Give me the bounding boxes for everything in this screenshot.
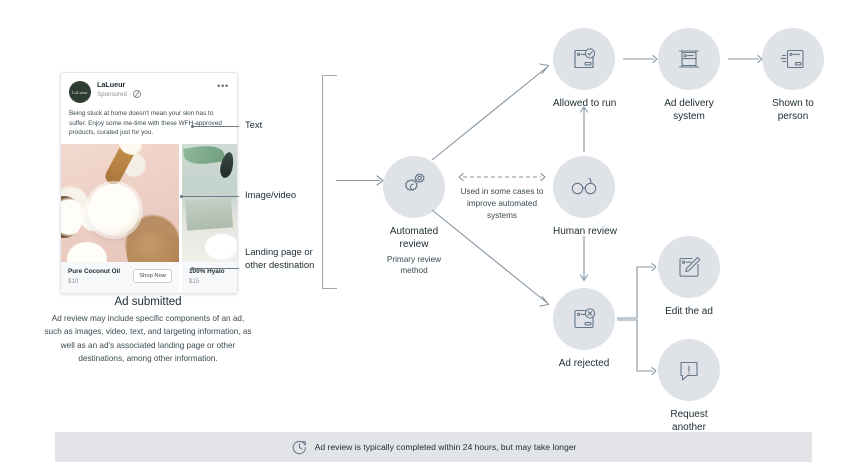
arrow-delivery-to-shown — [728, 54, 766, 64]
node-bubble — [553, 28, 615, 90]
spoon-shape — [103, 144, 140, 187]
callout-label-landing: Landing page or other destination — [245, 246, 323, 271]
ad-submitted-caption: Ad submitted Ad review may include speci… — [42, 296, 254, 365]
callout-leader-media — [182, 196, 239, 197]
bowl-shape — [205, 234, 237, 260]
document-feed-icon — [776, 42, 810, 76]
node-bubble — [658, 339, 720, 401]
product-name: Pure Coconut Oil — [68, 268, 120, 275]
node-bubble — [658, 236, 720, 298]
arrow-rejected-to-request — [617, 318, 663, 380]
node-bubble — [553, 156, 615, 218]
node-label: Ad rejected — [553, 357, 615, 370]
ad-product-row: Pure Coconut Oil $10 Shop Now 100% Hyalo… — [61, 262, 237, 293]
node-label: Shown to person — [762, 97, 824, 123]
status-bar-text: Ad review is typically completed within … — [315, 442, 577, 452]
ad-sponsored-label: Sponsored — [97, 91, 127, 98]
ad-preview-card: LaLueur LaLueur Sponsored · ••• Being st… — [60, 72, 238, 294]
powder-shape — [127, 232, 179, 262]
more-options-icon[interactable]: ••• — [217, 82, 229, 91]
arrow-human-to-allowed — [578, 104, 590, 152]
shop-now-button[interactable]: Shop Now — [133, 269, 172, 283]
coconut-shape — [61, 196, 83, 238]
caption-title: Ad submitted — [42, 296, 254, 308]
product-card-2[interactable]: 100% Hyalo $15 — [182, 262, 237, 293]
ad-image-secondary — [182, 144, 237, 262]
product-price: $10 — [68, 278, 120, 285]
arrow-allowed-to-delivery — [623, 54, 661, 64]
small-jar-shape — [67, 242, 107, 262]
arrow-automated-to-rejected — [428, 206, 554, 310]
status-bar: Ad review is typically completed within … — [55, 432, 812, 462]
callout-leader-text — [193, 126, 239, 127]
node-bubble — [553, 288, 615, 350]
ad-sponsored-row: Sponsored · — [97, 90, 217, 98]
document-check-icon — [567, 42, 601, 76]
ad-brand-name: LaLueur — [97, 81, 217, 89]
document-x-icon — [567, 302, 601, 336]
bracket-to-automated-line — [336, 180, 380, 181]
scope-bracket — [322, 75, 337, 289]
callout-label-media: Image/video — [245, 189, 296, 202]
node-allowed-to-run[interactable]: Allowed to run — [553, 28, 615, 110]
node-ad-rejected[interactable]: Ad rejected — [553, 288, 615, 370]
node-bubble — [762, 28, 824, 90]
arrow-automated-to-allowed — [428, 60, 554, 164]
callout-leader-landing — [193, 268, 239, 269]
cream-jar-shape — [88, 184, 140, 236]
node-ad-delivery-system[interactable]: Ad delivery system — [658, 28, 720, 123]
gears-icon — [397, 170, 431, 204]
node-label: Edit the ad — [658, 305, 720, 318]
globe-icon — [133, 90, 141, 98]
pencil-edit-icon — [672, 250, 706, 284]
feedback-dashed-arrow — [456, 172, 548, 182]
server-icon — [672, 42, 706, 76]
sponsored-separator: · — [129, 91, 131, 98]
glasses-icon — [567, 170, 601, 204]
arrow-human-to-rejected — [578, 236, 590, 284]
speech-bubble-alert-icon — [672, 353, 706, 387]
diagram-canvas: LaLueur LaLueur Sponsored · ••• Being st… — [0, 0, 867, 470]
node-edit-the-ad[interactable]: Edit the ad — [658, 236, 720, 318]
node-shown-to-person[interactable]: Shown to person — [762, 28, 824, 123]
ad-media-carousel — [61, 144, 237, 262]
node-label: Ad delivery system — [658, 97, 720, 123]
node-bubble — [658, 28, 720, 90]
product-card-1[interactable]: Pure Coconut Oil $10 Shop Now — [61, 262, 179, 293]
product-price: $15 — [189, 278, 230, 285]
node-request-another-review[interactable]: Request another review — [658, 339, 720, 447]
caption-body: Ad review may include specific component… — [42, 312, 254, 365]
callout-label-text: Text — [245, 119, 262, 132]
ad-card-header: LaLueur LaLueur Sponsored · ••• — [61, 73, 237, 107]
leaf-shape — [183, 144, 225, 167]
avatar: LaLueur — [69, 81, 91, 103]
clock-refresh-icon — [291, 439, 308, 456]
arrow-rejected-to-edit — [617, 258, 663, 322]
towel-shape — [185, 197, 233, 230]
ad-image-primary — [61, 144, 179, 262]
node-human-review[interactable]: Human review — [553, 156, 615, 238]
